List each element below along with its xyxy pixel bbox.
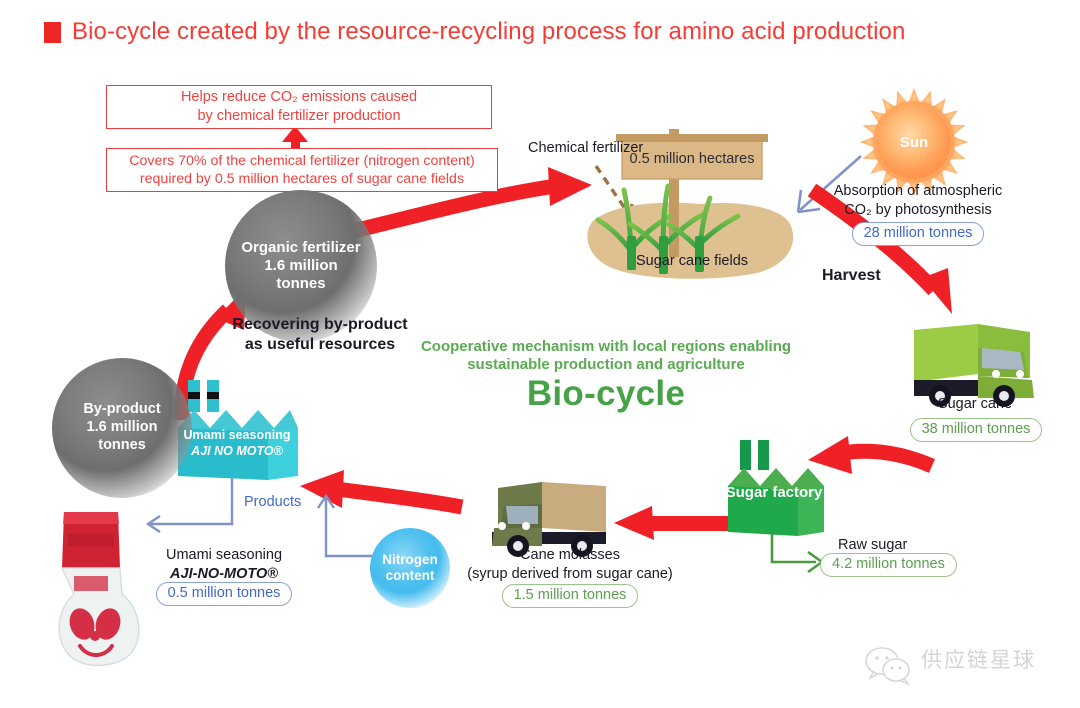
raw-sugar-label: Raw sugar [838,536,907,554]
by-product-label: By-product [83,401,160,419]
callout-covers-fertilizer: Covers 70% of the chemical fertilizer (n… [106,148,498,192]
photosynthesis-text: Absorption of atmospheric CO₂ by photosy… [818,182,1018,219]
chemical-fertilizer-label: Chemical fertilizer [528,139,643,157]
photosynthesis-value-wrap: 28 million tonnes [818,222,1018,246]
raw-sugar-value-wrap: 4.2 million tonnes [820,553,957,577]
raw-sugar-value: 4.2 million tonnes [820,553,957,577]
umami-product-value-wrap: 0.5 million tonnes [138,582,310,606]
by-product-value-2: tonnes [83,437,160,455]
nitrogen-label-2: content [382,568,438,584]
by-product-value-1: 1.6 million [83,419,160,437]
cane-molasses-value-wrap: 1.5 million tonnes [452,584,688,608]
coop-line2: sustainable production and agriculture [396,356,816,374]
callout-covers-line2: required by 0.5 million hectares of suga… [129,170,474,188]
photosynthesis-line2: CO₂ by photosynthesis [818,201,1018,220]
products-arrow-label: Products [244,494,301,510]
sugar-cane-value-wrap: 38 million tonnes [890,418,1062,442]
bio-cycle-heading: Bio-cycle [396,374,816,414]
ajinomoto-factory-line2: AJI NO MOTO® [176,444,298,460]
sugar-cane-label: Sugar cane [900,395,1050,413]
sugar-cane-fields-label: Sugar cane fields [612,252,772,270]
cooperative-mechanism-text: Cooperative mechanism with local regions… [396,338,816,375]
cane-molasses-line1: Cane molasses [452,546,688,565]
arrow-molasses-to-ajinomoto [300,470,462,508]
field-sign-label: 0.5 million hectares [628,150,756,168]
organic-fertilizer-value-2: tonnes [241,275,360,293]
harvest-label: Harvest [822,266,881,286]
callout-co2-line1: Helps reduce CO₂ emissions caused [181,88,417,107]
callout-co2-reduction: Helps reduce CO₂ emissions caused by che… [106,85,492,129]
node-by-product: By-product 1.6 million tonnes [52,358,192,498]
watermark-text: 供应链星球 [921,644,1036,674]
organic-fertilizer-value-1: 1.6 million [241,257,360,275]
recovering-line1: Recovering by-product [206,315,434,335]
node-sun: Sun [860,88,968,196]
photosynthesis-line1: Absorption of atmospheric [818,182,1018,201]
arrow-nitrogen-up [318,496,374,556]
ajinomoto-factory-label: Umami seasoning AJI NO MOTO® [176,428,298,459]
callout-covers-line1: Covers 70% of the chemical fertilizer (n… [129,152,474,170]
arrow-factory-to-molasses [614,506,734,540]
sugar-factory-label: Sugar factory [722,484,826,501]
sun-label: Sun [877,105,951,179]
callout-co2-line2: by chemical fertilizer production [181,107,417,126]
node-nitrogen-content: Nitrogen content [370,528,450,608]
ajinomoto-bottle-icon [59,512,139,665]
nitrogen-label-1: Nitrogen [382,552,438,568]
cane-molasses-text: Cane molasses (syrup derived from sugar … [452,546,688,584]
ajinomoto-factory-line1: Umami seasoning [176,428,298,444]
coop-line1: Cooperative mechanism with local regions… [396,338,816,356]
photosynthesis-value: 28 million tonnes [852,222,985,246]
umami-product-value: 0.5 million tonnes [156,582,293,606]
arrow-up-to-co2-box [282,126,308,148]
organic-fertilizer-label: Organic fertilizer [241,239,360,257]
umami-product-line2: AJI-NO-MOTO® [144,565,304,584]
sugar-cane-value: 38 million tonnes [910,418,1043,442]
umami-product-text: Umami seasoning AJI-NO-MOTO® [144,546,304,584]
watermark: 供应链星球 [864,640,1036,678]
cane-molasses-line2: (syrup derived from sugar cane) [452,565,688,584]
umami-product-line1: Umami seasoning [144,546,304,565]
cane-molasses-value: 1.5 million tonnes [502,584,639,608]
